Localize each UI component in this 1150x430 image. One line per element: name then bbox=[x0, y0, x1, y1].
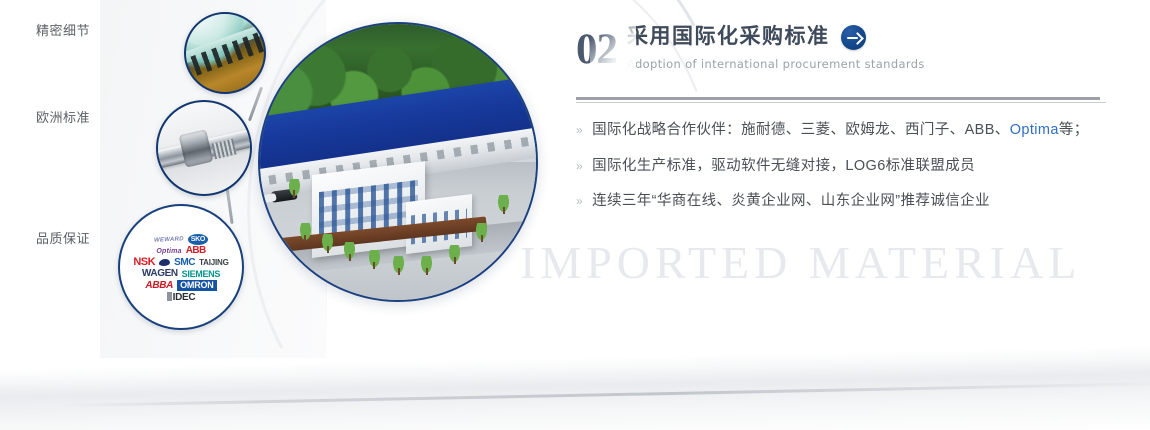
section-title-en: Adoption of international procurement st… bbox=[627, 57, 925, 71]
label-precision-detail: 精密细节 bbox=[36, 20, 90, 39]
logo-wagen: WAGEN bbox=[142, 269, 178, 279]
logo-sko: SKO bbox=[188, 234, 208, 245]
magnifier-ball-screw bbox=[156, 100, 252, 196]
feature-bullet-list: » 国际化战略合作伙伴：施耐德、三菱、欧姆龙、西门子、ABB、Optima等； … bbox=[576, 123, 1106, 209]
yard-tree bbox=[321, 234, 334, 253]
section-header: 02 采用国际化采购标准 Adoption of international p… bbox=[576, 24, 1106, 86]
logo-idec: IDEC bbox=[167, 292, 196, 303]
section-titles: 采用国际化采购标准 Adoption of international proc… bbox=[627, 24, 925, 71]
banner-stage: 精密细节 欧洲标准 品质保证 WEWARD SKO Optima bbox=[0, 0, 1150, 430]
chevron-double-right-icon: » bbox=[576, 195, 583, 207]
label-european-standard: 欧洲标准 bbox=[36, 107, 90, 126]
logo-weward: WEWARD bbox=[154, 236, 184, 244]
feature-content: 02 采用国际化采购标准 Adoption of international p… bbox=[576, 24, 1106, 225]
logo-nsk: NSK bbox=[133, 257, 155, 268]
section-title-cn-row: 采用国际化采购标准 bbox=[627, 25, 925, 50]
idec-square-icon bbox=[167, 292, 172, 301]
smc-diamond-icon bbox=[158, 259, 170, 266]
logo-omron: OMRON bbox=[177, 280, 217, 291]
bullet-accent-text: Optima bbox=[1010, 122, 1059, 138]
list-item: » 连续三年“华商在线、炎黄企业网、山东企业网”推荐诚信企业 bbox=[576, 194, 1106, 209]
logo-taijing: TAIJING bbox=[199, 259, 229, 267]
bullet-text: 国际化生产标准，驱动软件无缝对接，LOG6标准联盟成员 bbox=[592, 159, 975, 174]
magnifier-brand-logos: WEWARD SKO Optima ABB NSK SMC TAIJING WA… bbox=[118, 204, 244, 330]
logo-abba: ABBA bbox=[145, 281, 173, 291]
logo-optima: Optima bbox=[156, 248, 181, 255]
section-title-cn: 采用国际化采购标准 bbox=[627, 25, 830, 49]
chevron-double-right-icon: » bbox=[576, 160, 583, 172]
yard-tree bbox=[497, 195, 510, 214]
bullet-text: 连续三年“华商在线、炎黄企业网、山东企业网”推荐诚信企业 bbox=[592, 194, 990, 209]
magnifier-gear-detail bbox=[184, 12, 266, 94]
brand-logo-wall: WEWARD SKO Optima ABB NSK SMC TAIJING WA… bbox=[120, 206, 242, 328]
yard-tree bbox=[420, 256, 433, 275]
bullet-text: 国际化战略合作伙伴：施耐德、三菱、欧姆龙、西门子、ABB、Optima等； bbox=[592, 123, 1089, 138]
logo-abb: ABB bbox=[186, 246, 206, 256]
logo-siemens: SIEMENS bbox=[182, 270, 220, 279]
logo-smc: SMC bbox=[174, 258, 195, 268]
yard-tree bbox=[299, 223, 312, 242]
list-item: » 国际化战略合作伙伴：施耐德、三菱、欧姆龙、西门子、ABB、Optima等； bbox=[576, 123, 1106, 138]
yard-tree bbox=[392, 256, 405, 275]
arrow-right-circle-icon[interactable] bbox=[841, 25, 866, 50]
chevron-double-right-icon: » bbox=[576, 124, 583, 136]
section-number: 02 bbox=[576, 24, 617, 71]
yard-tree bbox=[343, 242, 356, 261]
label-quality-assurance: 品质保证 bbox=[36, 228, 90, 247]
header-divider bbox=[576, 97, 1106, 101]
yard-tree bbox=[288, 179, 301, 198]
list-item: » 国际化生产标准，驱动软件无缝对接，LOG6标准联盟成员 bbox=[576, 159, 1106, 174]
yard-tree bbox=[475, 223, 488, 242]
yard-tree bbox=[448, 245, 461, 264]
factory-aerial-photo bbox=[258, 22, 538, 302]
yard-tree bbox=[368, 250, 381, 269]
